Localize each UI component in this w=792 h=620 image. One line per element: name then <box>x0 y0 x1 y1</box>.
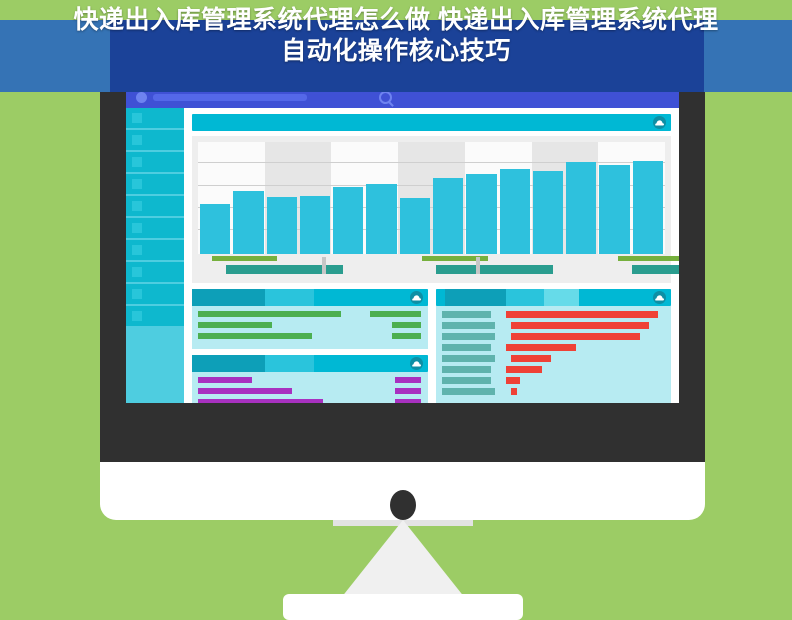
row-bar-left <box>198 377 252 383</box>
cloud-icon[interactable] <box>653 116 666 129</box>
cloud-icon[interactable] <box>410 291 423 304</box>
row-label <box>442 311 491 318</box>
page-title: 快递出入库管理系统代理怎么做 快递出入库管理系统代理 自动化操作核心技巧 <box>64 5 729 68</box>
bar-chart-panel <box>192 136 671 283</box>
row-bar-left <box>198 333 312 339</box>
sidebar-item-5[interactable] <box>126 196 184 216</box>
sidebar-item-4[interactable] <box>126 174 184 194</box>
menu-icon <box>132 135 142 145</box>
sidebar-item-6[interactable] <box>126 218 184 238</box>
sidebar-item-9[interactable] <box>126 284 184 304</box>
menu-icon <box>132 289 142 299</box>
chart-bar <box>566 162 596 254</box>
row-label <box>442 344 491 351</box>
green-card-rows <box>192 306 428 349</box>
row-label <box>442 355 496 362</box>
title-line-1: 快递出入库管理系统代理怎么做 快递出入库管理系统代理 <box>74 6 719 34</box>
sidebar-item-3[interactable] <box>126 152 184 172</box>
row-bar <box>511 322 650 329</box>
chart-bar <box>366 184 396 254</box>
legend-separator <box>322 257 326 274</box>
red-card-row <box>442 322 666 329</box>
title-line-2: 自动化操作核心技巧 <box>281 37 511 65</box>
red-card-row <box>442 366 666 373</box>
red-card-row <box>442 377 666 384</box>
poster-canvas: 快递出入库管理系统代理怎么做 快递出入库管理系统代理 自动化操作核心技巧 <box>0 0 792 602</box>
sidebar-item-2[interactable] <box>126 130 184 150</box>
chart-card-header <box>192 114 671 131</box>
lower-cards <box>192 289 671 403</box>
menu-icon <box>132 179 142 189</box>
row-bar-left <box>198 322 272 328</box>
chart-legend <box>198 254 665 283</box>
red-card-header <box>436 289 672 306</box>
legend-separator <box>476 257 480 274</box>
row-bar <box>506 344 575 351</box>
monitor-stand <box>341 520 465 598</box>
card-row <box>198 388 422 394</box>
desktop-monitor <box>100 72 705 462</box>
red-card-row <box>442 344 666 351</box>
card-row <box>198 377 422 383</box>
menu-icon <box>132 311 142 321</box>
red-card-row <box>442 388 666 395</box>
card-row <box>198 333 422 339</box>
row-bar-right <box>392 333 421 339</box>
cloud-icon[interactable] <box>653 291 666 304</box>
address-bar[interactable] <box>153 94 307 101</box>
cloud-icon[interactable] <box>410 357 423 370</box>
dashboard-app <box>126 108 679 403</box>
red-card-row <box>442 311 666 318</box>
purple-card <box>192 355 428 403</box>
power-button[interactable] <box>390 490 416 520</box>
chart-bar <box>466 174 496 254</box>
row-bar <box>511 388 518 395</box>
chart-bar <box>533 171 563 254</box>
row-bar-right <box>395 399 422 403</box>
red-card-row <box>442 333 666 340</box>
right-card-column <box>436 289 672 403</box>
legend-marker-teal <box>436 265 553 274</box>
row-bar <box>511 333 641 340</box>
menu-icon <box>132 223 142 233</box>
purple-card-rows <box>192 372 428 403</box>
chart-bar <box>233 191 263 254</box>
search-icon[interactable] <box>379 91 392 104</box>
row-bar-left <box>198 311 341 317</box>
monitor-screen <box>126 86 679 403</box>
chart-bar <box>400 198 430 254</box>
red-card <box>436 289 672 403</box>
row-bar-right <box>370 311 421 317</box>
purple-card-header <box>192 355 428 372</box>
chart-bar <box>300 196 330 254</box>
row-label <box>442 377 491 384</box>
sidebar-item-7[interactable] <box>126 240 184 260</box>
green-card <box>192 289 428 349</box>
sidebar-item-1[interactable] <box>126 108 184 128</box>
dashboard-main <box>184 108 679 403</box>
row-label <box>442 322 496 329</box>
chart-bar <box>599 165 629 254</box>
row-bar-right <box>395 388 422 394</box>
legend-marker-green <box>212 256 277 261</box>
row-bar-left <box>198 388 292 394</box>
row-bar-right <box>392 322 421 328</box>
chart-bar <box>200 204 230 254</box>
card-row <box>198 399 422 403</box>
chart-bar <box>267 197 297 254</box>
chart-bar <box>333 187 363 254</box>
sidebar-item-10[interactable] <box>126 306 184 326</box>
row-bar-left <box>198 399 323 403</box>
row-bar <box>506 377 519 384</box>
row-bar <box>506 366 542 373</box>
menu-icon <box>132 267 142 277</box>
red-card-rows <box>436 306 672 403</box>
red-card-row <box>442 355 666 362</box>
chart-bars <box>198 142 665 254</box>
chart-bar <box>633 161 663 254</box>
sidebar <box>126 108 184 403</box>
left-cards-column <box>192 289 428 403</box>
row-label <box>442 333 496 340</box>
row-label <box>442 366 491 373</box>
card-row <box>198 311 422 317</box>
title-banner: 快递出入库管理系统代理怎么做 快递出入库管理系统代理 自动化操作核心技巧 <box>0 0 792 72</box>
row-bar <box>511 355 551 362</box>
bar-chart-plot <box>198 142 665 254</box>
card-row <box>198 322 422 328</box>
chart-bar <box>433 178 463 254</box>
row-label <box>442 388 496 395</box>
menu-icon <box>132 157 142 167</box>
green-card-header <box>192 289 428 306</box>
sidebar-menu <box>126 108 184 328</box>
chart-bar <box>500 169 530 254</box>
menu-icon <box>132 113 142 123</box>
browser-dot-icon <box>136 92 147 103</box>
sidebar-item-8[interactable] <box>126 262 184 282</box>
menu-icon <box>132 201 142 211</box>
legend-marker-teal <box>632 265 679 274</box>
legend-marker-green <box>618 256 679 261</box>
row-bar-right <box>395 377 422 383</box>
row-bar <box>506 311 658 318</box>
monitor-base <box>283 594 523 620</box>
menu-icon <box>132 245 142 255</box>
